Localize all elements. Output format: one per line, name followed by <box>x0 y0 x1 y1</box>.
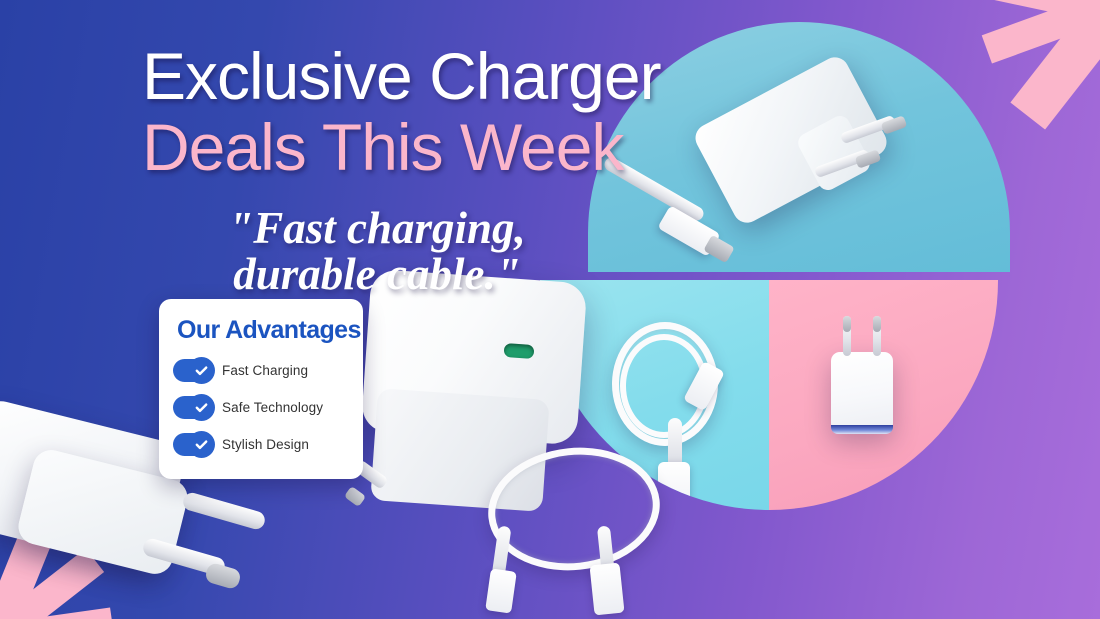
usb-c-port <box>504 343 535 359</box>
advantage-item: Safe Technology <box>173 396 363 419</box>
plug-prong-tip <box>873 316 881 332</box>
headline-line-2: Deals This Week <box>142 117 662 178</box>
plug-prong-tip <box>204 562 242 591</box>
eu-adapter-body <box>831 352 893 432</box>
charger-body <box>691 52 892 227</box>
advantage-item: Stylish Design <box>173 433 363 456</box>
advantage-label: Stylish Design <box>222 437 309 452</box>
advantages-title: Our Advantages <box>177 316 363 345</box>
tagline-quote: "Fast charging, durable cable." <box>172 206 582 298</box>
check-badge <box>173 396 213 419</box>
check-badge <box>173 359 213 382</box>
headline: Exclusive Charger Deals This Week <box>142 46 662 177</box>
headline-line-1: Exclusive Charger <box>142 46 662 107</box>
check-badge <box>173 433 213 456</box>
plug-prong <box>181 491 267 531</box>
micro-usb-connector <box>485 568 517 613</box>
plug-prong-tip <box>843 316 851 332</box>
plug-prong-tip <box>344 486 366 507</box>
eu-adapter-led-strip <box>831 425 893 434</box>
check-icon <box>188 394 215 421</box>
advantages-card: Our Advantages Fast Charging Safe Tec <box>159 299 363 479</box>
foreground-charger-product <box>352 268 692 619</box>
check-icon <box>188 357 215 384</box>
photo-half-pink <box>769 280 998 510</box>
promo-banner: Exclusive Charger Deals This Week "Fast … <box>0 0 1100 619</box>
advantage-item: Fast Charging <box>173 359 363 382</box>
check-icon <box>188 431 215 458</box>
usb-a-connector <box>589 563 624 616</box>
advantage-label: Fast Charging <box>222 363 308 378</box>
advantage-label: Safe Technology <box>222 400 323 415</box>
